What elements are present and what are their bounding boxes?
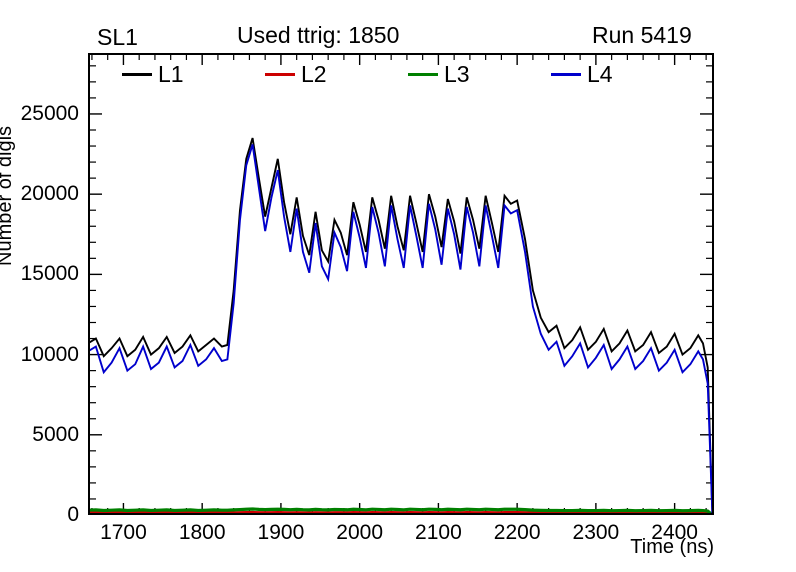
legend-label-l2: L2 <box>301 63 327 86</box>
legend-swatch-l2 <box>265 73 295 76</box>
y-axis-title-text: Number of digis <box>0 86 17 266</box>
series-line-l1 <box>88 138 712 515</box>
y-tick-label: 0 <box>0 503 79 527</box>
x-tick-label: 1800 <box>179 521 226 545</box>
y-axis-title: Number of digis <box>0 0 17 86</box>
legend: L1 L2 L3 L4 <box>88 53 714 92</box>
x-tick-label: 1700 <box>100 521 147 545</box>
series-line-l2 <box>88 513 712 515</box>
legend-entry-l1: L1 <box>122 60 184 88</box>
axis-ticks <box>88 53 714 515</box>
y-tick-label: 10000 <box>0 343 79 367</box>
x-tick-label: 2100 <box>415 521 462 545</box>
legend-swatch-l1 <box>122 73 152 76</box>
run-label: Run 5419 <box>592 22 692 49</box>
x-tick-label: 2300 <box>573 521 620 545</box>
legend-entry-l4: L4 <box>551 60 613 88</box>
plot-area <box>88 53 714 515</box>
x-tick-label: 2000 <box>336 521 383 545</box>
chart-canvas: SL1 Used ttrig: 1850 Run 5419 Number of … <box>0 0 796 572</box>
legend-label-l3: L3 <box>444 63 470 86</box>
ttrig-title: Used ttrig: 1850 <box>237 22 399 49</box>
superlayer-label: SL1 <box>97 24 138 51</box>
series-svg <box>88 53 714 515</box>
legend-swatch-l3 <box>408 73 438 76</box>
x-tick-label: 2200 <box>494 521 541 545</box>
legend-entry-l3: L3 <box>408 60 470 88</box>
x-axis-title: Time (ns) <box>630 536 714 559</box>
y-tick-label: 5000 <box>0 423 79 447</box>
legend-entry-l2: L2 <box>265 60 327 88</box>
legend-label-l4: L4 <box>587 63 613 86</box>
legend-swatch-l4 <box>551 73 581 76</box>
series-line-l4 <box>88 144 712 515</box>
x-tick-label: 1900 <box>258 521 305 545</box>
legend-label-l1: L1 <box>158 63 184 86</box>
